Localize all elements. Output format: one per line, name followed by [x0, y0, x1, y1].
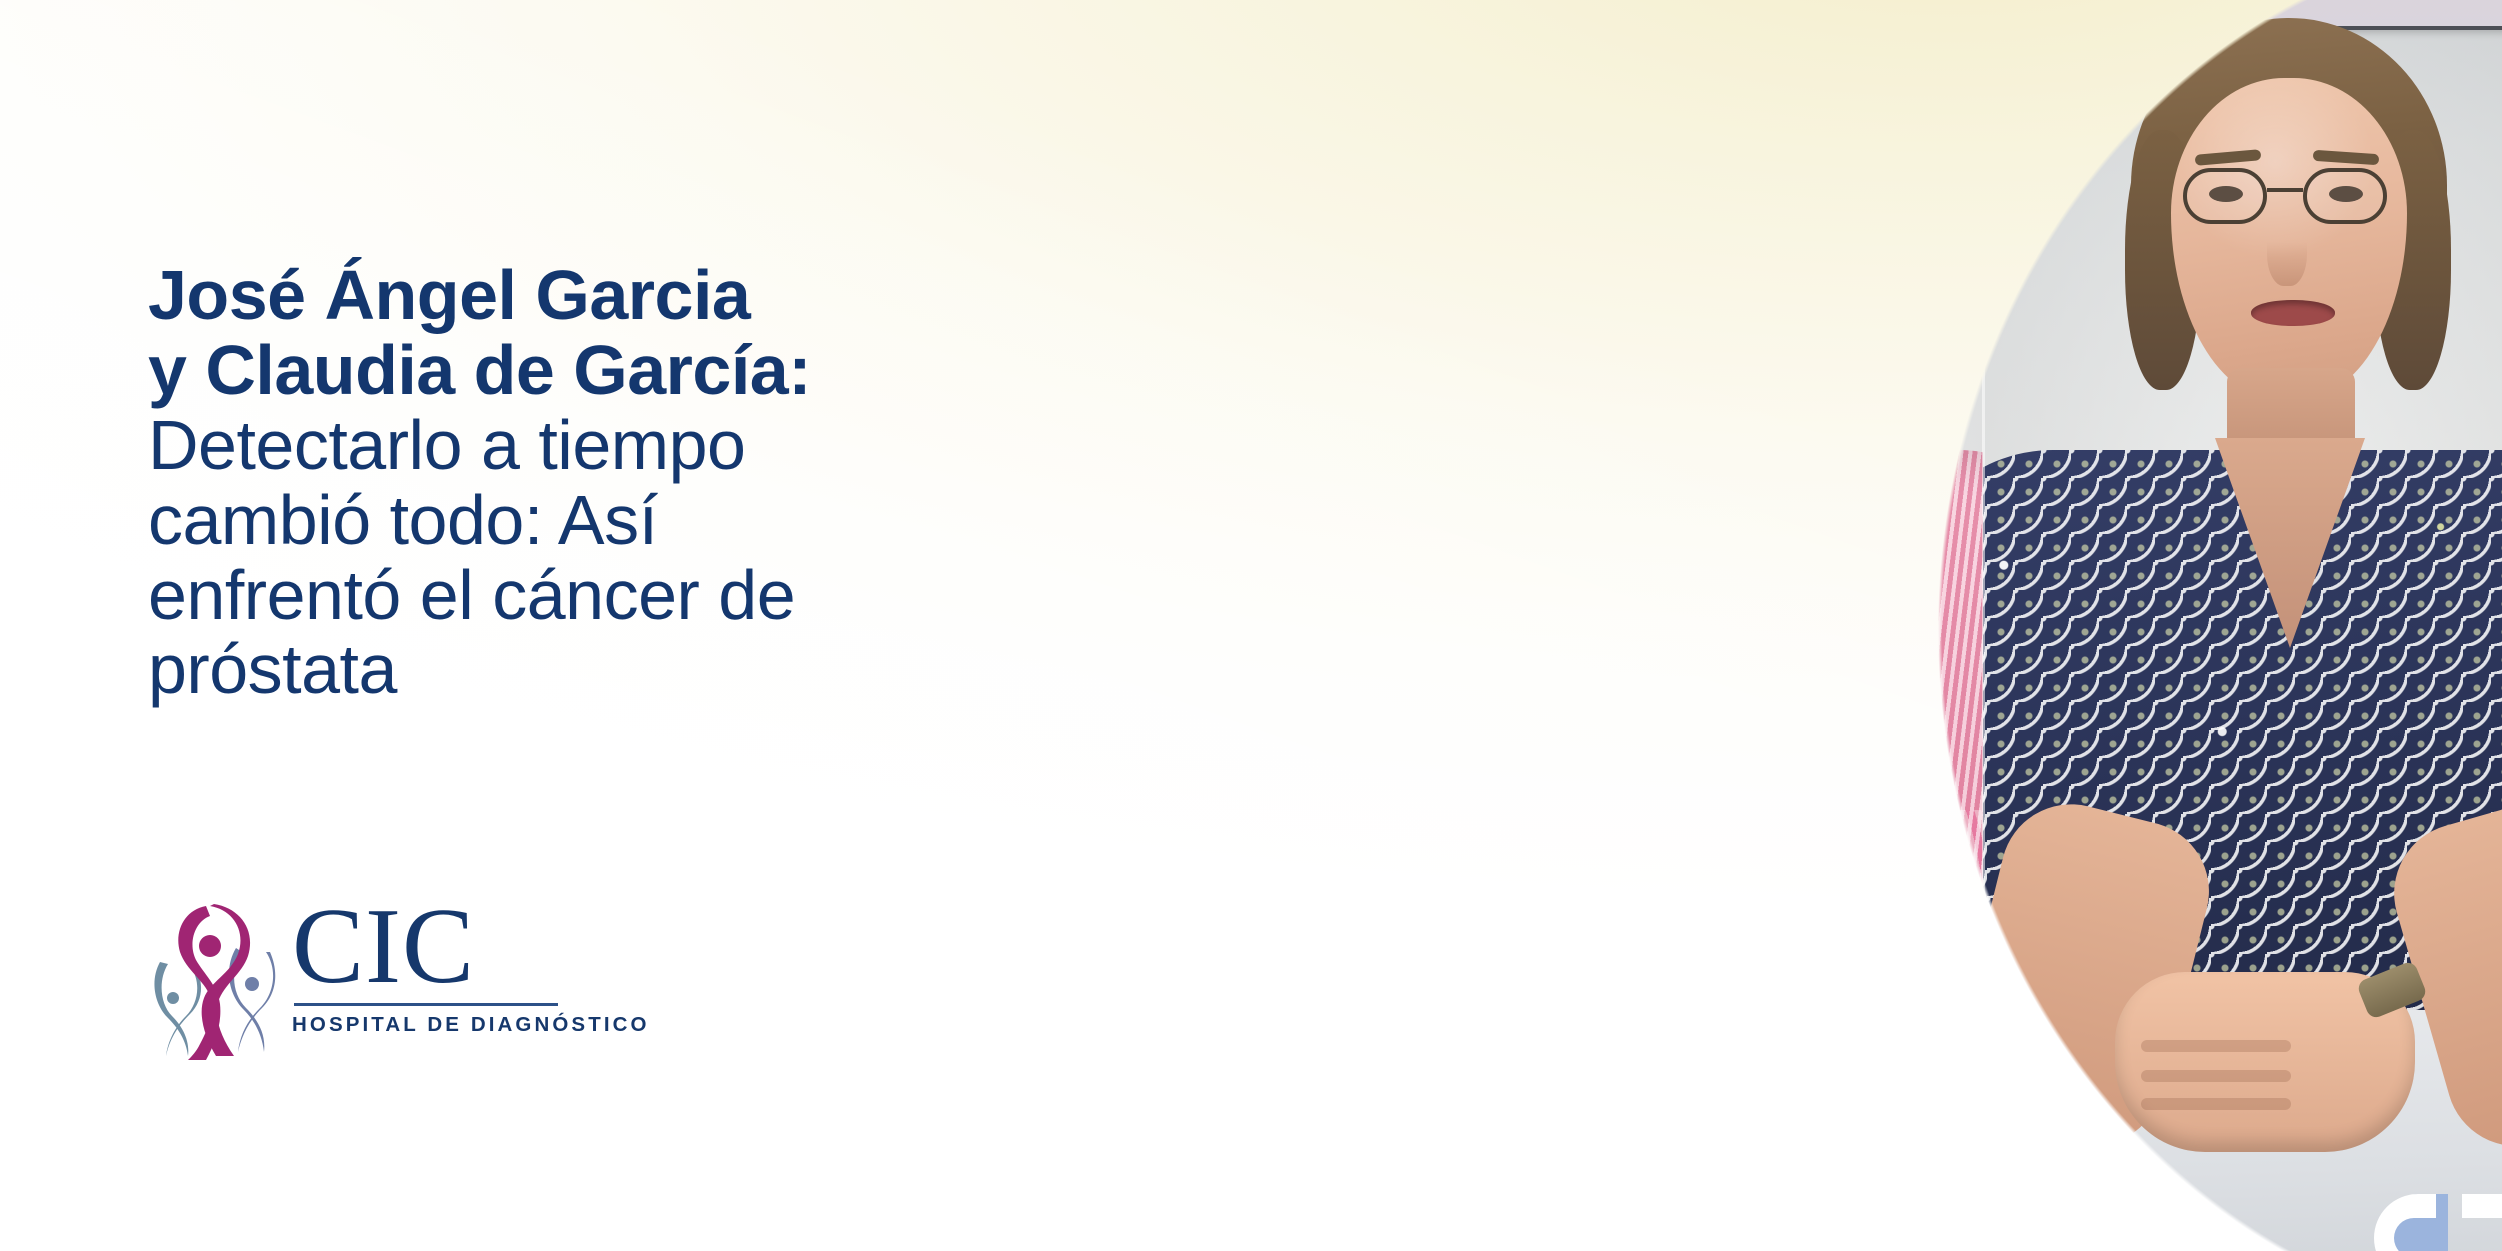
cic-wordmark: CIC: [292, 896, 650, 999]
headline-names-line-2: y Claudia de García:: [148, 333, 1168, 408]
woman-eyeglass-bridge: [2267, 188, 2303, 192]
woman-eyeglass-right: [2303, 168, 2387, 224]
video-pane-woman: [1983, 0, 2502, 1251]
man-shirt-placket: [1648, 490, 1694, 1090]
framed-artwork-left: [1503, 0, 1765, 27]
video-pane-man: [1318, 0, 1983, 1251]
video-pane-divider: [1982, 0, 1985, 1251]
lapel-microphone-icon: [1636, 534, 1666, 566]
broadcast-watermark-icon: [2374, 1190, 2502, 1251]
page-title: José Ángel Garcia y Claudia de García: D…: [148, 258, 1168, 707]
cic-ribbon-people-icon: [148, 900, 276, 1060]
woman-eyeglass-left: [2183, 168, 2267, 224]
headline-block: José Ángel Garcia y Claudia de García: D…: [148, 258, 1168, 707]
man-nose: [1610, 198, 1654, 278]
man-shirt-logo: [1842, 720, 1884, 754]
woman-finger-line-3: [2141, 1098, 2291, 1110]
headline-subtitle-line-1: Detectarlo a tiempo: [148, 408, 1168, 483]
headline-names-line-1: José Ángel Garcia: [148, 258, 1168, 333]
cic-tagline: HOSPITAL DE DIAGNÓSTICO: [292, 1013, 650, 1037]
man-jeans-seam: [1700, 1040, 1712, 1251]
headline-subtitle-line-3: enfrentó el cáncer de: [148, 558, 1168, 633]
man-mouth: [1592, 290, 1678, 318]
cic-logo[interactable]: CIC HOSPITAL DE DIAGNÓSTICO: [148, 900, 548, 1075]
interview-photo: [1318, 0, 2502, 1251]
woman-finger-line-1: [2141, 1040, 2291, 1052]
man-eye-left: [1550, 180, 1600, 198]
headline-subtitle-line-2: cambió todo: Así: [148, 483, 1168, 558]
man-eye-right: [1660, 180, 1710, 198]
woman-nose: [2267, 210, 2307, 286]
woman-finger-line-2: [2141, 1070, 2291, 1082]
man-shirt-collar: [1532, 436, 1750, 528]
cic-wordmark-group: CIC HOSPITAL DE DIAGNÓSTICO: [292, 896, 650, 1037]
headline-subtitle-line-4: próstata: [148, 632, 1168, 707]
promo-card: José Ángel Garcia y Claudia de García: D…: [0, 0, 2502, 1251]
woman-mouth: [2251, 300, 2335, 326]
